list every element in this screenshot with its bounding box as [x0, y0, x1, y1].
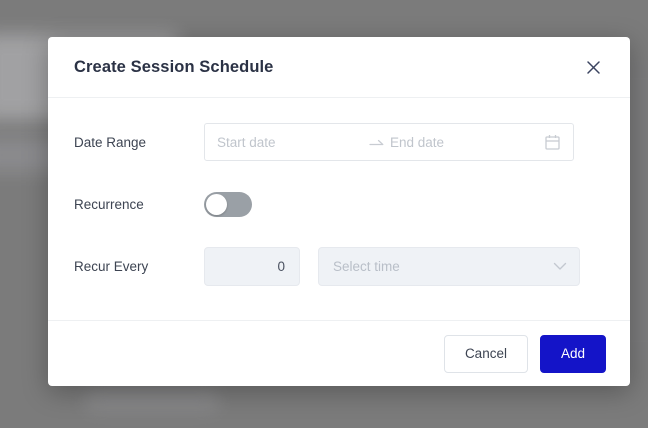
- recurrence-label: Recurrence: [74, 197, 204, 212]
- recur-every-time-select[interactable]: Select time: [318, 247, 580, 286]
- end-date-input[interactable]: End date: [390, 135, 537, 150]
- field-row-recurrence: Recurrence: [74, 184, 604, 224]
- recur-every-time-value: Select time: [333, 259, 553, 274]
- toggle-knob: [206, 194, 227, 215]
- calendar-icon[interactable]: [543, 134, 561, 150]
- recur-every-label: Recur Every: [74, 259, 204, 274]
- dialog-header: Create Session Schedule: [48, 37, 630, 98]
- cancel-button[interactable]: Cancel: [444, 335, 528, 373]
- start-date-input[interactable]: Start date: [217, 135, 364, 150]
- create-session-schedule-dialog: Create Session Schedule Date Range Start…: [48, 37, 630, 386]
- date-range-picker[interactable]: Start date End date: [204, 123, 574, 161]
- add-button[interactable]: Add: [540, 335, 606, 373]
- field-row-recur-every: Recur Every 0 Select time: [74, 246, 604, 286]
- screen: Create Session Schedule Date Range Start…: [0, 0, 648, 428]
- close-icon[interactable]: [580, 54, 606, 80]
- recurrence-toggle[interactable]: [204, 192, 252, 217]
- field-row-date-range: Date Range Start date End date: [74, 122, 604, 162]
- recur-every-amount-input[interactable]: 0: [204, 247, 300, 286]
- date-range-label: Date Range: [74, 135, 204, 150]
- page-title: Create Session Schedule: [74, 58, 580, 77]
- dialog-body: Date Range Start date End date: [48, 98, 630, 320]
- arrow-right-icon: [364, 137, 390, 147]
- dialog-footer: Cancel Add: [48, 320, 630, 386]
- chevron-down-icon: [553, 262, 567, 271]
